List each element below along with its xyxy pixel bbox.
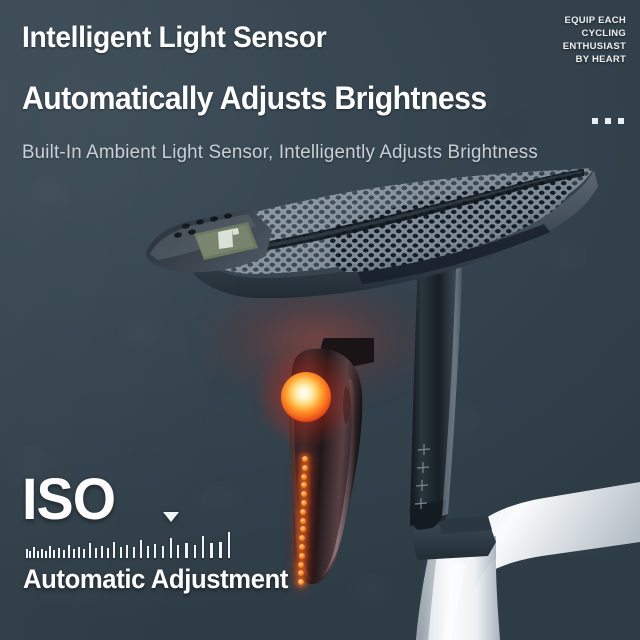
dial-tick (83, 549, 85, 558)
corner-tagline-line-2: CYCLING (563, 27, 626, 40)
dial-tick (194, 545, 197, 558)
dial-tick (177, 545, 179, 558)
dial-tick (185, 543, 188, 558)
dial-tick (219, 542, 222, 558)
corner-tagline-line-4: BY HEART (563, 53, 626, 66)
dial-tick (95, 548, 97, 558)
iso-caption: Automatic Adjustment (23, 564, 288, 595)
dial-tick (68, 545, 70, 558)
corner-tagline-line-1: EQUIP EACH (563, 14, 626, 27)
dial-tick (126, 545, 128, 558)
headline-line-2: Automatically Adjusts Brightness (22, 80, 487, 117)
led-dot (300, 509, 306, 515)
led-dot (302, 456, 308, 462)
dial-tick (58, 548, 60, 558)
iso-dial-scale (26, 532, 226, 558)
dial-tick (53, 550, 55, 558)
led-dot (299, 544, 305, 550)
dial-tick (140, 540, 142, 558)
led-dot (299, 553, 305, 559)
led-dot (301, 491, 307, 497)
main-led-icon (281, 372, 331, 422)
dial-tick (133, 547, 135, 558)
dial-tick (73, 549, 75, 558)
dial-tick (89, 543, 91, 558)
dial-tick (49, 546, 51, 558)
led-dot (301, 500, 307, 506)
dial-tick (26, 549, 28, 558)
dial-tick (101, 546, 103, 558)
headline-line-1: Intelligent Light Sensor (22, 21, 326, 55)
subtitle: Built-In Ambient Light Sensor, Intellige… (22, 142, 538, 164)
bicycle-saddle (132, 152, 602, 332)
dial-tick (29, 551, 31, 558)
ellipsis-dot (605, 118, 611, 124)
dial-tick (63, 550, 65, 558)
led-dot (302, 465, 308, 471)
dial-tick (78, 547, 80, 558)
dial-tick (41, 549, 43, 558)
led-dot (298, 579, 304, 585)
dial-tick (37, 551, 39, 558)
dial-tick (210, 543, 213, 558)
dial-tick (154, 544, 156, 558)
dial-tick (228, 532, 231, 558)
dial-tick (120, 547, 122, 558)
dial-tick (45, 551, 47, 558)
product-marketing-image: Intelligent Light Sensor Automatically A… (0, 0, 640, 640)
ellipsis-icon (592, 118, 624, 124)
corner-tagline-line-3: ENTHUSIAST (563, 40, 626, 53)
dial-tick (162, 546, 164, 558)
iso-label: ISO (22, 471, 115, 529)
dial-tick (170, 538, 172, 558)
ellipsis-dot (592, 118, 598, 124)
dial-tick (147, 546, 149, 558)
dial-tick (202, 536, 205, 558)
ellipsis-dot (618, 118, 624, 124)
dial-tick (113, 542, 115, 558)
dial-tick (33, 547, 35, 558)
dial-tick (107, 548, 109, 558)
corner-tagline: EQUIP EACH CYCLING ENTHUSIAST BY HEART (563, 14, 626, 66)
triangle-down-icon (163, 512, 179, 522)
led-dot (300, 518, 306, 524)
